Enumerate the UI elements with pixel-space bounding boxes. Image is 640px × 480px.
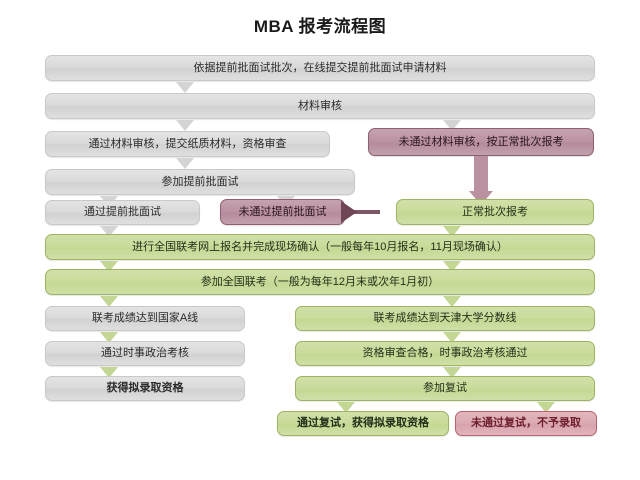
page-title: MBA 报考流程图 — [0, 12, 640, 37]
edge-n4-n8-shaft — [474, 156, 488, 192]
node-n11[interactable]: 联考成绩达到国家A线 — [45, 306, 245, 331]
node-n4[interactable]: 未通过材料审核，按正常批次报考 — [368, 128, 594, 156]
node-n9[interactable]: 进行全国联考网上报名并完成现场确认（一般每年10月报名，11月现场确认） — [45, 234, 595, 260]
edge-n1-n2-arrow-icon — [176, 82, 194, 93]
node-n17[interactable]: 通过复试，获得拟录取资格 — [277, 411, 449, 436]
node-n1[interactable]: 依据提前批面试批次，在线提交提前批面试申请材料 — [45, 55, 595, 81]
node-n13[interactable]: 通过时事政治考核 — [45, 341, 245, 366]
edge-n3-n5-arrow-icon — [176, 158, 194, 169]
node-n16[interactable]: 参加复试 — [295, 376, 595, 401]
flowchart-canvas: MBA 报考流程图 依据提前批面试批次，在线提交提前批面试申请材料 材料审核 通… — [0, 0, 640, 480]
node-n6[interactable]: 通过提前批面试 — [45, 200, 200, 225]
node-n15[interactable]: 获得拟录取资格 — [45, 376, 245, 401]
node-n2[interactable]: 材料审核 — [45, 93, 595, 119]
edge-n2-n3-arrow-icon — [176, 120, 194, 131]
node-n10[interactable]: 参加全国联考（一般为每年12月末或次年1月初） — [45, 269, 595, 295]
node-n7[interactable]: 未通过提前批面试 — [220, 199, 345, 225]
node-n5[interactable]: 参加提前批面试 — [45, 169, 355, 195]
edge-n7-n8-arrow-icon — [341, 201, 357, 223]
node-n3[interactable]: 通过材料审核，提交纸质材料，资格审查 — [45, 131, 330, 157]
node-n12[interactable]: 联考成绩达到天津大学分数线 — [295, 306, 595, 331]
node-n8[interactable]: 正常批次报考 — [396, 199, 594, 225]
node-n14[interactable]: 资格审查合格，时事政治考核通过 — [295, 341, 595, 366]
node-n18[interactable]: 未通过复试，不予录取 — [455, 411, 597, 436]
